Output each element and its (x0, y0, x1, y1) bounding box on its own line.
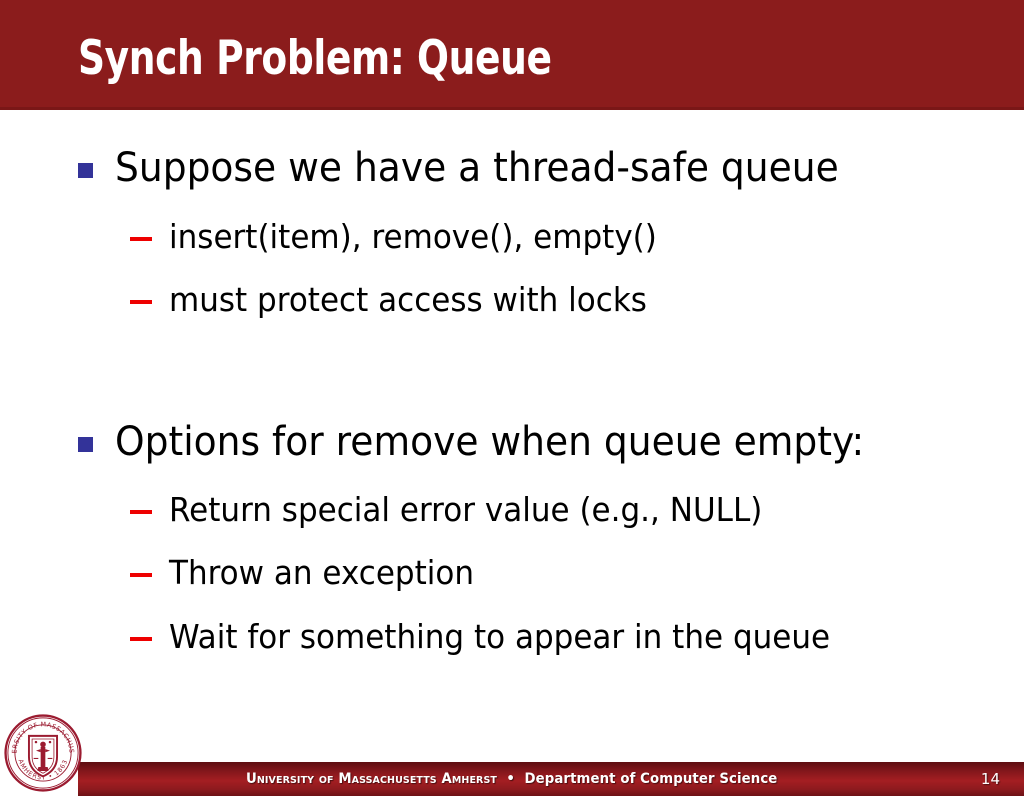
bullet-level2-text: Wait for something to appear in the queu… (169, 617, 830, 657)
dash-bullet-icon (130, 510, 152, 514)
square-bullet-icon (78, 163, 93, 178)
slide-body: Suppose we have a thread-safe queue inse… (0, 110, 1024, 710)
bullet-level2: insert(item), remove(), empty() (130, 217, 688, 257)
dash-bullet-icon (130, 300, 152, 304)
bullet-level2-text: insert(item), remove(), empty() (169, 217, 657, 257)
slide-footer-bar (78, 762, 1024, 796)
umass-seal-logo: UNIVERSITY OF MASSACHUSETTS AMHERST • 18… (4, 714, 82, 792)
dash-bullet-icon (130, 573, 152, 577)
bullet-level1: Suppose we have a thread-safe queue (78, 144, 885, 192)
bullet-level2: Throw an exception (130, 553, 494, 593)
presentation-slide: Synch Problem: Queue Suppose we have a t… (0, 0, 1024, 796)
bullet-level2: Return special error value (e.g., NULL) (130, 490, 800, 530)
dash-bullet-icon (130, 237, 152, 241)
bullet-level1: Options for remove when queue empty: (78, 418, 912, 466)
slide-title: Synch Problem: Queue (78, 30, 552, 88)
bullet-level2-text: must protect access with locks (169, 280, 647, 320)
bullet-level1-text: Suppose we have a thread-safe queue (115, 144, 839, 192)
bullet-level2-text: Return special error value (e.g., NULL) (169, 490, 762, 530)
slide-header-bar: Synch Problem: Queue (0, 0, 1024, 110)
page-number: 14 (981, 762, 1000, 796)
dash-bullet-icon (130, 637, 152, 641)
bullet-level2: must protect access with locks (130, 280, 677, 320)
square-bullet-icon (78, 437, 93, 452)
bullet-level1-text: Options for remove when queue empty: (115, 418, 864, 466)
bullet-level2-text: Throw an exception (169, 553, 474, 593)
bullet-level2: Wait for something to appear in the queu… (130, 617, 872, 657)
